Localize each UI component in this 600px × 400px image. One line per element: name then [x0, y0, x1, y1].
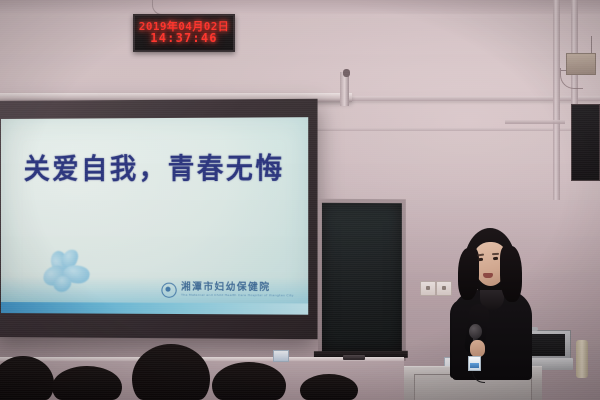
- hospital-logo-icon: [162, 283, 177, 298]
- presenter-hand: [470, 340, 485, 357]
- blackboard-surface: [322, 203, 402, 351]
- desk-item-card: [273, 350, 289, 362]
- presenter-eye: [478, 258, 483, 261]
- presenter-eye: [493, 257, 498, 260]
- hospital-logo-name-cn: 湘潭市妇幼保健院: [181, 283, 294, 293]
- lecture-hall-photo: 2019年04月02日 14:37:46 关爱自我，青春无悔 湘潭市妇幼保健院 …: [0, 0, 600, 400]
- conduit-pipe-horizontal: [505, 120, 565, 124]
- led-wall-clock: 2019年04月02日 14:37:46: [133, 14, 235, 52]
- butterfly-decoration-icon: [39, 249, 97, 295]
- ceiling-edge: [0, 0, 600, 14]
- presenter: Kc: [440, 228, 545, 373]
- wall-socket: [420, 281, 436, 296]
- slide-accent-band: [1, 302, 308, 315]
- clock-time-text: 14:37:46: [150, 32, 217, 45]
- presenter-mouth: [483, 273, 493, 278]
- wall-column-trim: [576, 340, 588, 378]
- hospital-logo-name-en: The Maternal and Child Health Care Hospi…: [181, 294, 294, 297]
- desk-item-remote: [343, 355, 365, 360]
- presenter-hair-side: [500, 246, 522, 302]
- projection-screen-frame: 关爱自我，青春无悔 湘潭市妇幼保健院 The Maternal and Chil…: [0, 99, 318, 339]
- presenter-id-badge: [468, 356, 481, 371]
- conduit-pipe: [553, 0, 560, 200]
- audience-head: [300, 374, 358, 400]
- screen-mount-knob: [343, 69, 350, 77]
- screen-mount-bracket: [340, 72, 349, 106]
- wall-speaker-panel: [571, 104, 600, 181]
- projection-screen: 关爱自我，青春无悔 湘潭市妇幼保健院 The Maternal and Chil…: [1, 117, 308, 315]
- presenter-hair-side: [458, 248, 479, 300]
- microphone-icon: [469, 324, 482, 339]
- wall-junction-box: [566, 53, 596, 75]
- slide-title-text: 关爱自我，青春无悔: [1, 147, 308, 188]
- hospital-logo: 湘潭市妇幼保健院 The Maternal and Child Health C…: [162, 283, 294, 299]
- audience-head: [52, 366, 122, 400]
- blackboard-frame: [318, 199, 406, 361]
